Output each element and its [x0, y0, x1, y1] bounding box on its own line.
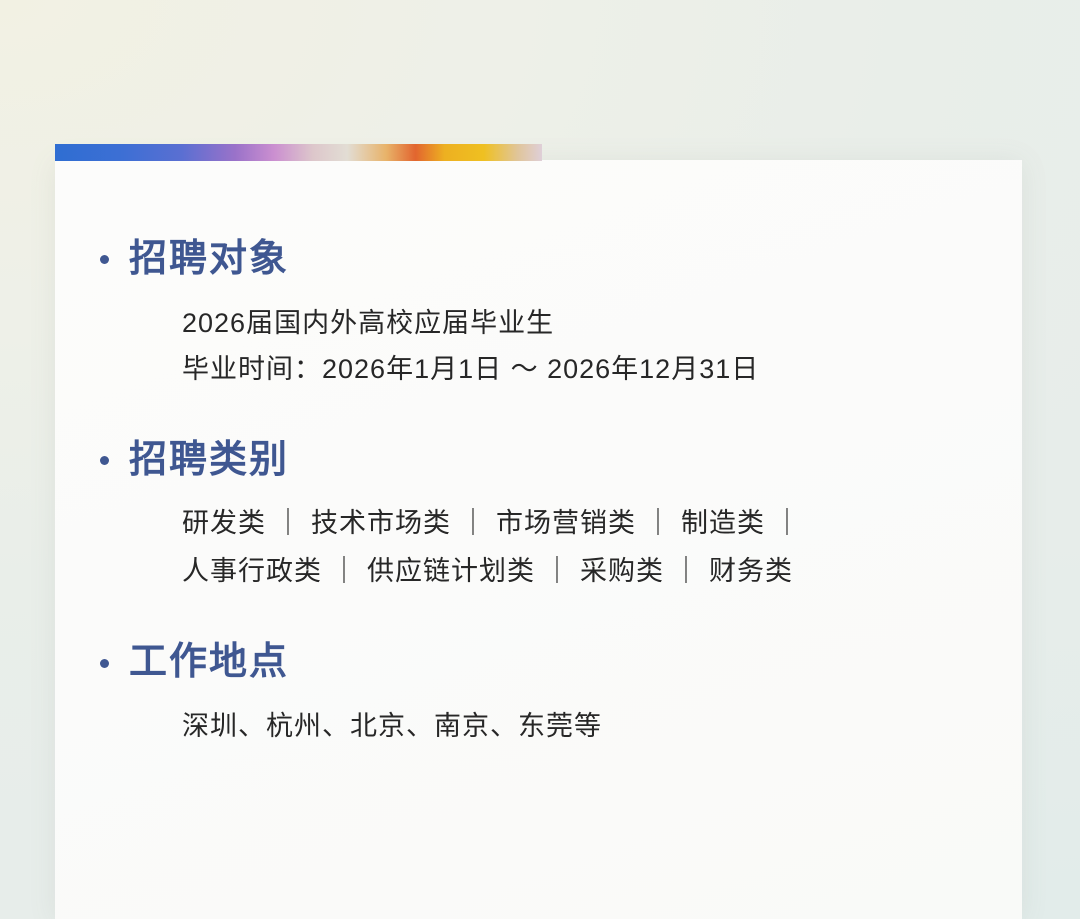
section-heading-row: 招聘对象 — [100, 238, 1022, 282]
body-line: 2026届国内外高校应届毕业生 — [182, 300, 1022, 346]
bullet-dot-icon — [100, 659, 109, 668]
section-recruitment-category: 招聘类别 研发类 ｜ 技术市场类 ｜ 市场营销类 ｜ 制造类 ｜ 人事行政类 ｜… — [100, 439, 1022, 596]
section-recruitment-target: 招聘对象 2026届国内外高校应届毕业生 毕业时间：2026年1月1日 ～ 20… — [100, 238, 1022, 393]
section-body-recruitment-target: 2026届国内外高校应届毕业生 毕业时间：2026年1月1日 ～ 2026年12… — [100, 300, 1022, 393]
body-line: 毕业时间：2026年1月1日 ～ 2026年12月31日 — [182, 346, 1022, 392]
bullet-dot-icon — [100, 255, 109, 264]
gradient-accent-bar — [55, 144, 542, 161]
section-heading-work-location: 工作地点 — [129, 641, 289, 685]
bullet-dot-icon — [100, 456, 109, 465]
section-heading-row: 工作地点 — [100, 641, 1022, 685]
category-line: 研发类 ｜ 技术市场类 ｜ 市场营销类 ｜ 制造类 ｜ — [182, 500, 1022, 548]
section-heading-row: 招聘类别 — [100, 439, 1022, 483]
section-heading-recruitment-target: 招聘对象 — [129, 238, 289, 282]
section-body-recruitment-category: 研发类 ｜ 技术市场类 ｜ 市场营销类 ｜ 制造类 ｜ 人事行政类 ｜ 供应链计… — [100, 500, 1022, 595]
section-heading-recruitment-category: 招聘类别 — [129, 439, 289, 483]
card-content: 招聘对象 2026届国内外高校应届毕业生 毕业时间：2026年1月1日 ～ 20… — [55, 160, 1022, 749]
section-work-location: 工作地点 深圳、杭州、北京、南京、东莞等 — [100, 641, 1022, 749]
category-line: 人事行政类 ｜ 供应链计划类 ｜ 采购类 ｜ 财务类 — [182, 548, 1022, 596]
section-body-work-location: 深圳、杭州、北京、南京、东莞等 — [100, 703, 1022, 749]
body-line: 深圳、杭州、北京、南京、东莞等 — [182, 703, 1022, 749]
info-card: 招聘对象 2026届国内外高校应届毕业生 毕业时间：2026年1月1日 ～ 20… — [55, 160, 1022, 919]
